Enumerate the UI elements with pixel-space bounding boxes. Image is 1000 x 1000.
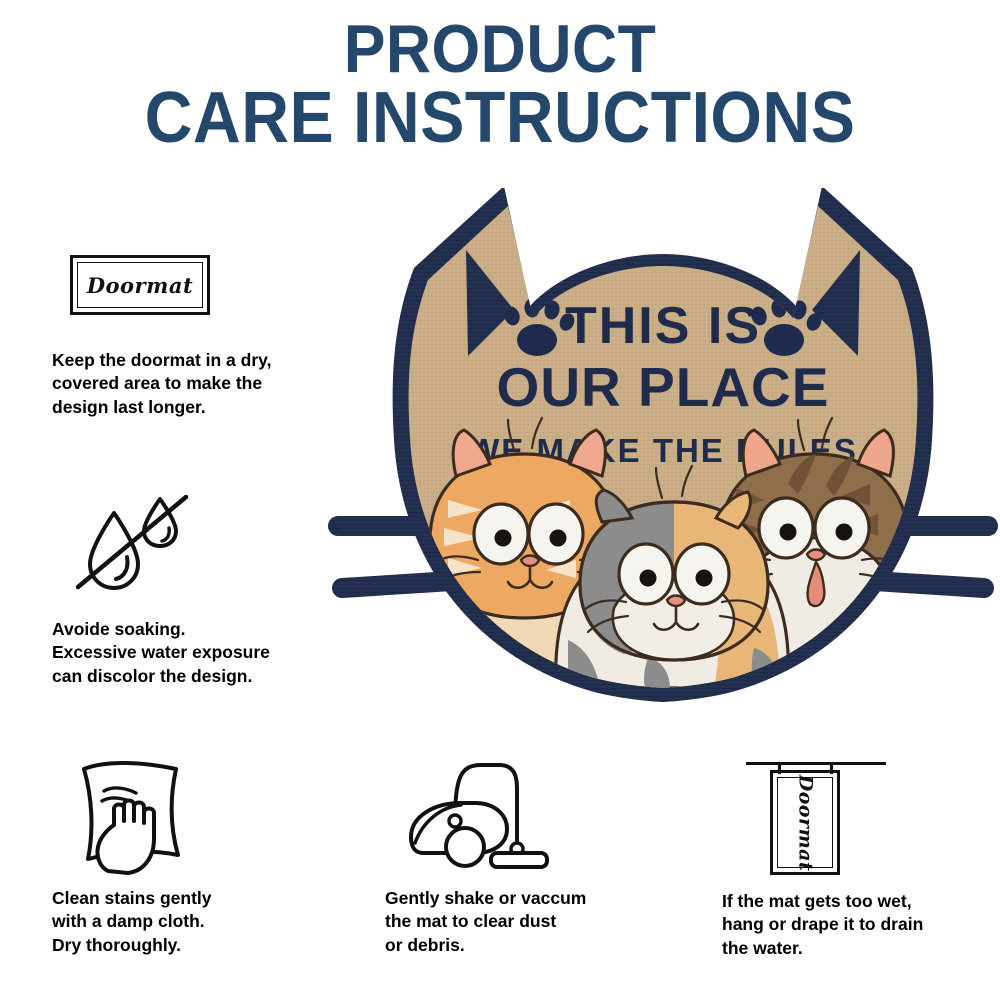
- hand-wiping-cloth-icon: [70, 755, 200, 875]
- care-item-keep-dry-text: Keep the doormat in a dry, covered area …: [52, 349, 342, 419]
- page-title-line-1: PRODUCT: [40, 18, 960, 81]
- care-item-clean-stains: Clean stains gently with a damp cloth. D…: [52, 755, 352, 957]
- product-doormat-illustration: THIS IS OUR PLACE WE MAKE THE RULES Sunn…: [318, 188, 1000, 718]
- page-title: PRODUCT CARE INSTRUCTIONS: [0, 18, 1000, 152]
- care-item-hang-dry: Doormat If the mat gets too wet, hang or…: [722, 750, 1000, 960]
- hanging-doormat-icon: Doormat: [740, 750, 900, 880]
- care-item-keep-dry: Doormat Keep the doormat in a dry, cover…: [52, 255, 342, 419]
- care-item-avoid-soaking-text: Avoide soaking. Excessive water exposure…: [52, 618, 342, 688]
- product-headline-line-1: THIS IS: [565, 297, 761, 355]
- care-item-avoid-soaking: Avoide soaking. Excessive water exposure…: [52, 495, 342, 688]
- page-title-line-2: CARE INSTRUCTIONS: [40, 85, 960, 152]
- care-item-vacuum: Gently shake or vaccum the mat to clear …: [385, 755, 685, 957]
- doormat-icon-label: Doormat: [87, 273, 193, 298]
- hanging-rail: [746, 762, 886, 765]
- doormat-rectangle-icon: Doormat: [70, 255, 220, 327]
- care-item-clean-stains-text: Clean stains gently with a damp cloth. D…: [52, 887, 352, 957]
- hanging-doormat-label: Doormat: [794, 774, 816, 871]
- care-item-hang-dry-text: If the mat gets too wet, hang or drape i…: [722, 890, 1000, 960]
- vacuum-cleaner-icon: [403, 755, 598, 875]
- product-headline-line-2: OUR PLACE: [497, 356, 830, 418]
- care-instructions-page: PRODUCT CARE INSTRUCTIONS Doormat Keep t…: [0, 0, 1000, 1000]
- care-item-vacuum-text: Gently shake or vaccum the mat to clear …: [385, 887, 685, 957]
- no-water-drops-icon: [72, 495, 192, 600]
